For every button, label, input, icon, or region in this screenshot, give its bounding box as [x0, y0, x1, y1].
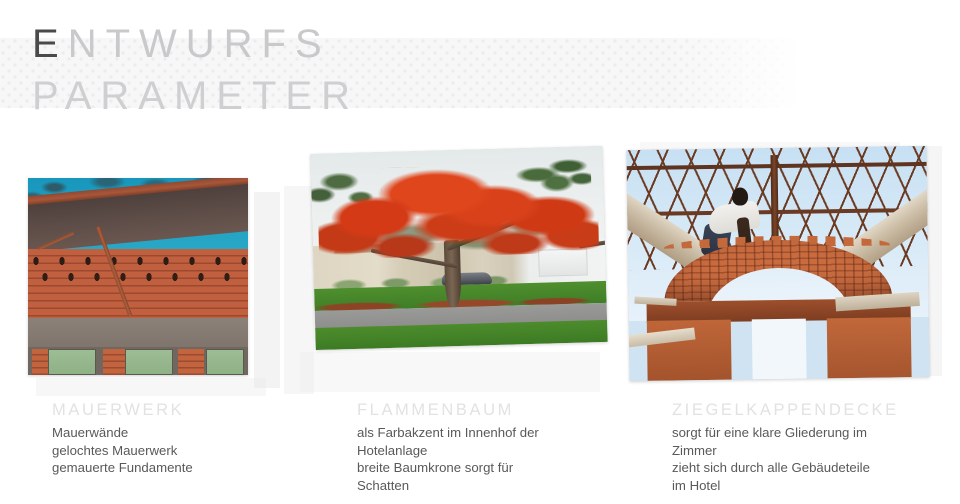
caption-body-flame-tree: als Farbakzent im Innenhof der Hotelanla… [357, 424, 657, 494]
masonry-ghost-panel [254, 192, 280, 388]
caption-title-flame-tree: FLAMMENBAUM [357, 401, 657, 420]
flame-tree-photo[interactable] [310, 146, 607, 350]
caption-brick-vault: ZIEGELKAPPENDECKE sorgt für eine klare G… [672, 401, 960, 494]
title-initial: E [32, 22, 68, 66]
caption-line: gelochtes Mauerwerk [52, 442, 332, 460]
masonry-ghost-strip [36, 378, 266, 396]
caption-masonry: MAUERWERK Mauerwände gelochtes Mauerwerk… [52, 401, 332, 477]
caption-line: sorgt für eine klare Gliederung im [672, 424, 960, 442]
caption-line: Zimmer [672, 442, 960, 460]
perforated-brick-wall-photo[interactable] [28, 178, 248, 375]
caption-line: Schatten [357, 477, 657, 495]
page-title: ENTWURFS PARAMETER [32, 18, 359, 122]
brick-vault-construction-photo[interactable] [626, 146, 929, 381]
caption-line: im Hotel [672, 477, 960, 495]
caption-line: breite Baumkrone sorgt für [357, 459, 657, 477]
caption-line: zieht sich durch alle Gebäudeteile [672, 459, 960, 477]
caption-flame-tree: FLAMMENBAUM als Farbakzent im Innenhof d… [357, 401, 657, 494]
slide-canvas: ENTWURFS PARAMETER [0, 0, 960, 504]
caption-line: Hotelanlage [357, 442, 657, 460]
caption-body-brick-vault: sorgt für eine klare Gliederung im Zimme… [672, 424, 960, 494]
title-line-1-rest: NTWURFS [68, 22, 331, 66]
title-line-2: PARAMETER [32, 70, 359, 122]
caption-title-masonry: MAUERWERK [52, 401, 332, 420]
caption-line: gemauerte Fundamente [52, 459, 332, 477]
caption-title-brick-vault: ZIEGELKAPPENDECKE [672, 401, 960, 420]
caption-body-masonry: Mauerwände gelochtes Mauerwerk gemauerte… [52, 424, 332, 477]
title-line-1: ENTWURFS [32, 18, 359, 70]
caption-line: Mauerwände [52, 424, 332, 442]
caption-line: als Farbakzent im Innenhof der [357, 424, 657, 442]
flametree-ghost-strip [300, 352, 600, 392]
